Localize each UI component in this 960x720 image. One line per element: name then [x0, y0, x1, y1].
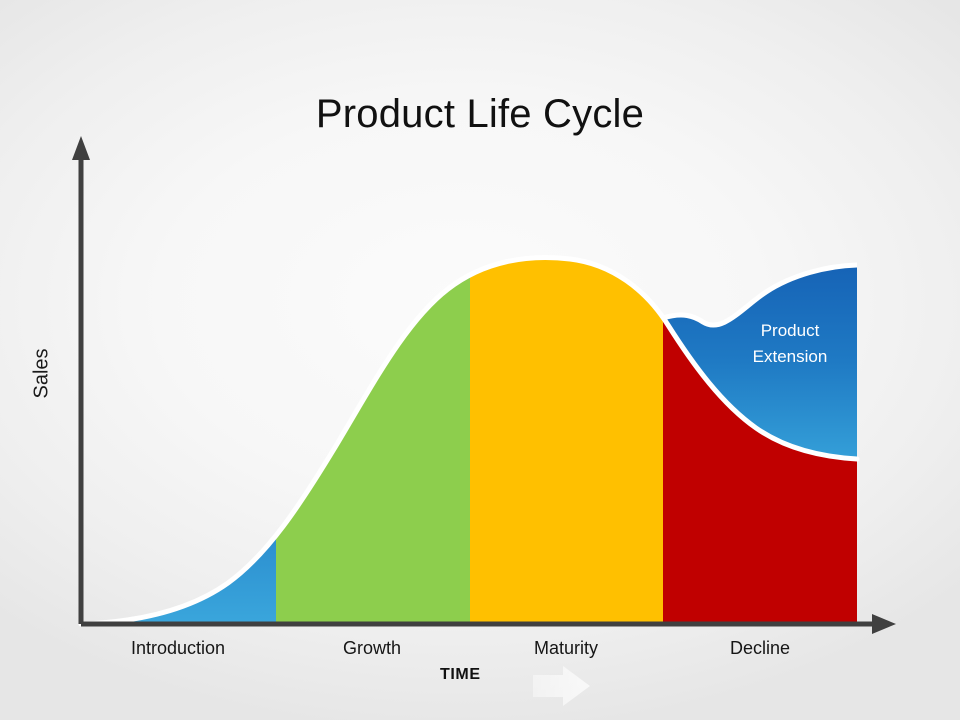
stage-label-maturity: Maturity	[486, 638, 646, 659]
y-axis-label: Sales	[22, 318, 62, 428]
product-extension-label-line2: Extension	[726, 344, 854, 370]
slide-canvas: Product Life Cycle Sales TIME Introducti…	[0, 0, 960, 720]
product-extension-label-line1: Product	[726, 318, 854, 344]
arrow-up-icon	[72, 136, 90, 160]
y-axis-label-text: Sales	[31, 348, 54, 398]
page-title: Product Life Cycle	[0, 92, 960, 137]
time-flow-arrow-icon	[533, 666, 590, 706]
product-extension-label: Product Extension	[726, 318, 854, 370]
x-axis-label: TIME	[440, 666, 481, 684]
stage-label-introduction: Introduction	[98, 638, 258, 659]
arrow-right-icon	[872, 614, 896, 634]
stage-label-growth: Growth	[292, 638, 452, 659]
stage-label-decline: Decline	[680, 638, 840, 659]
